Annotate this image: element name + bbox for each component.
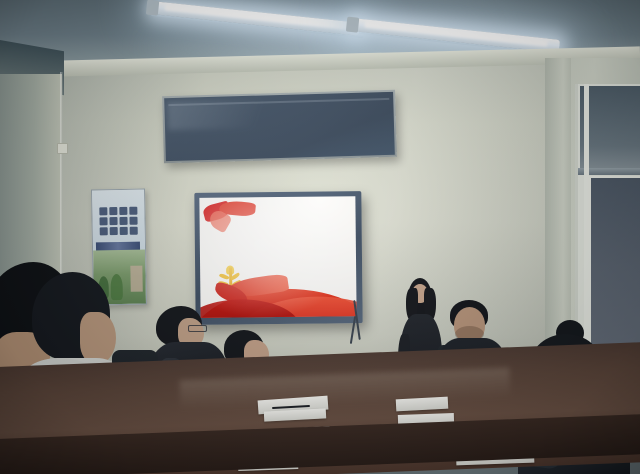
attendee-left-glasses-icon [188,325,207,332]
presentation-slide [199,196,356,318]
poster-character-grid [99,207,139,237]
slide-title [218,243,350,244]
projection-screen [194,191,362,325]
blackboard [162,90,397,163]
window-blind[interactable] [580,86,640,172]
light-switch[interactable] [57,143,68,154]
white-jacket-face [80,312,116,364]
slide-ribbon-emblem-icon [203,199,265,230]
meeting-room-photo [0,0,640,474]
